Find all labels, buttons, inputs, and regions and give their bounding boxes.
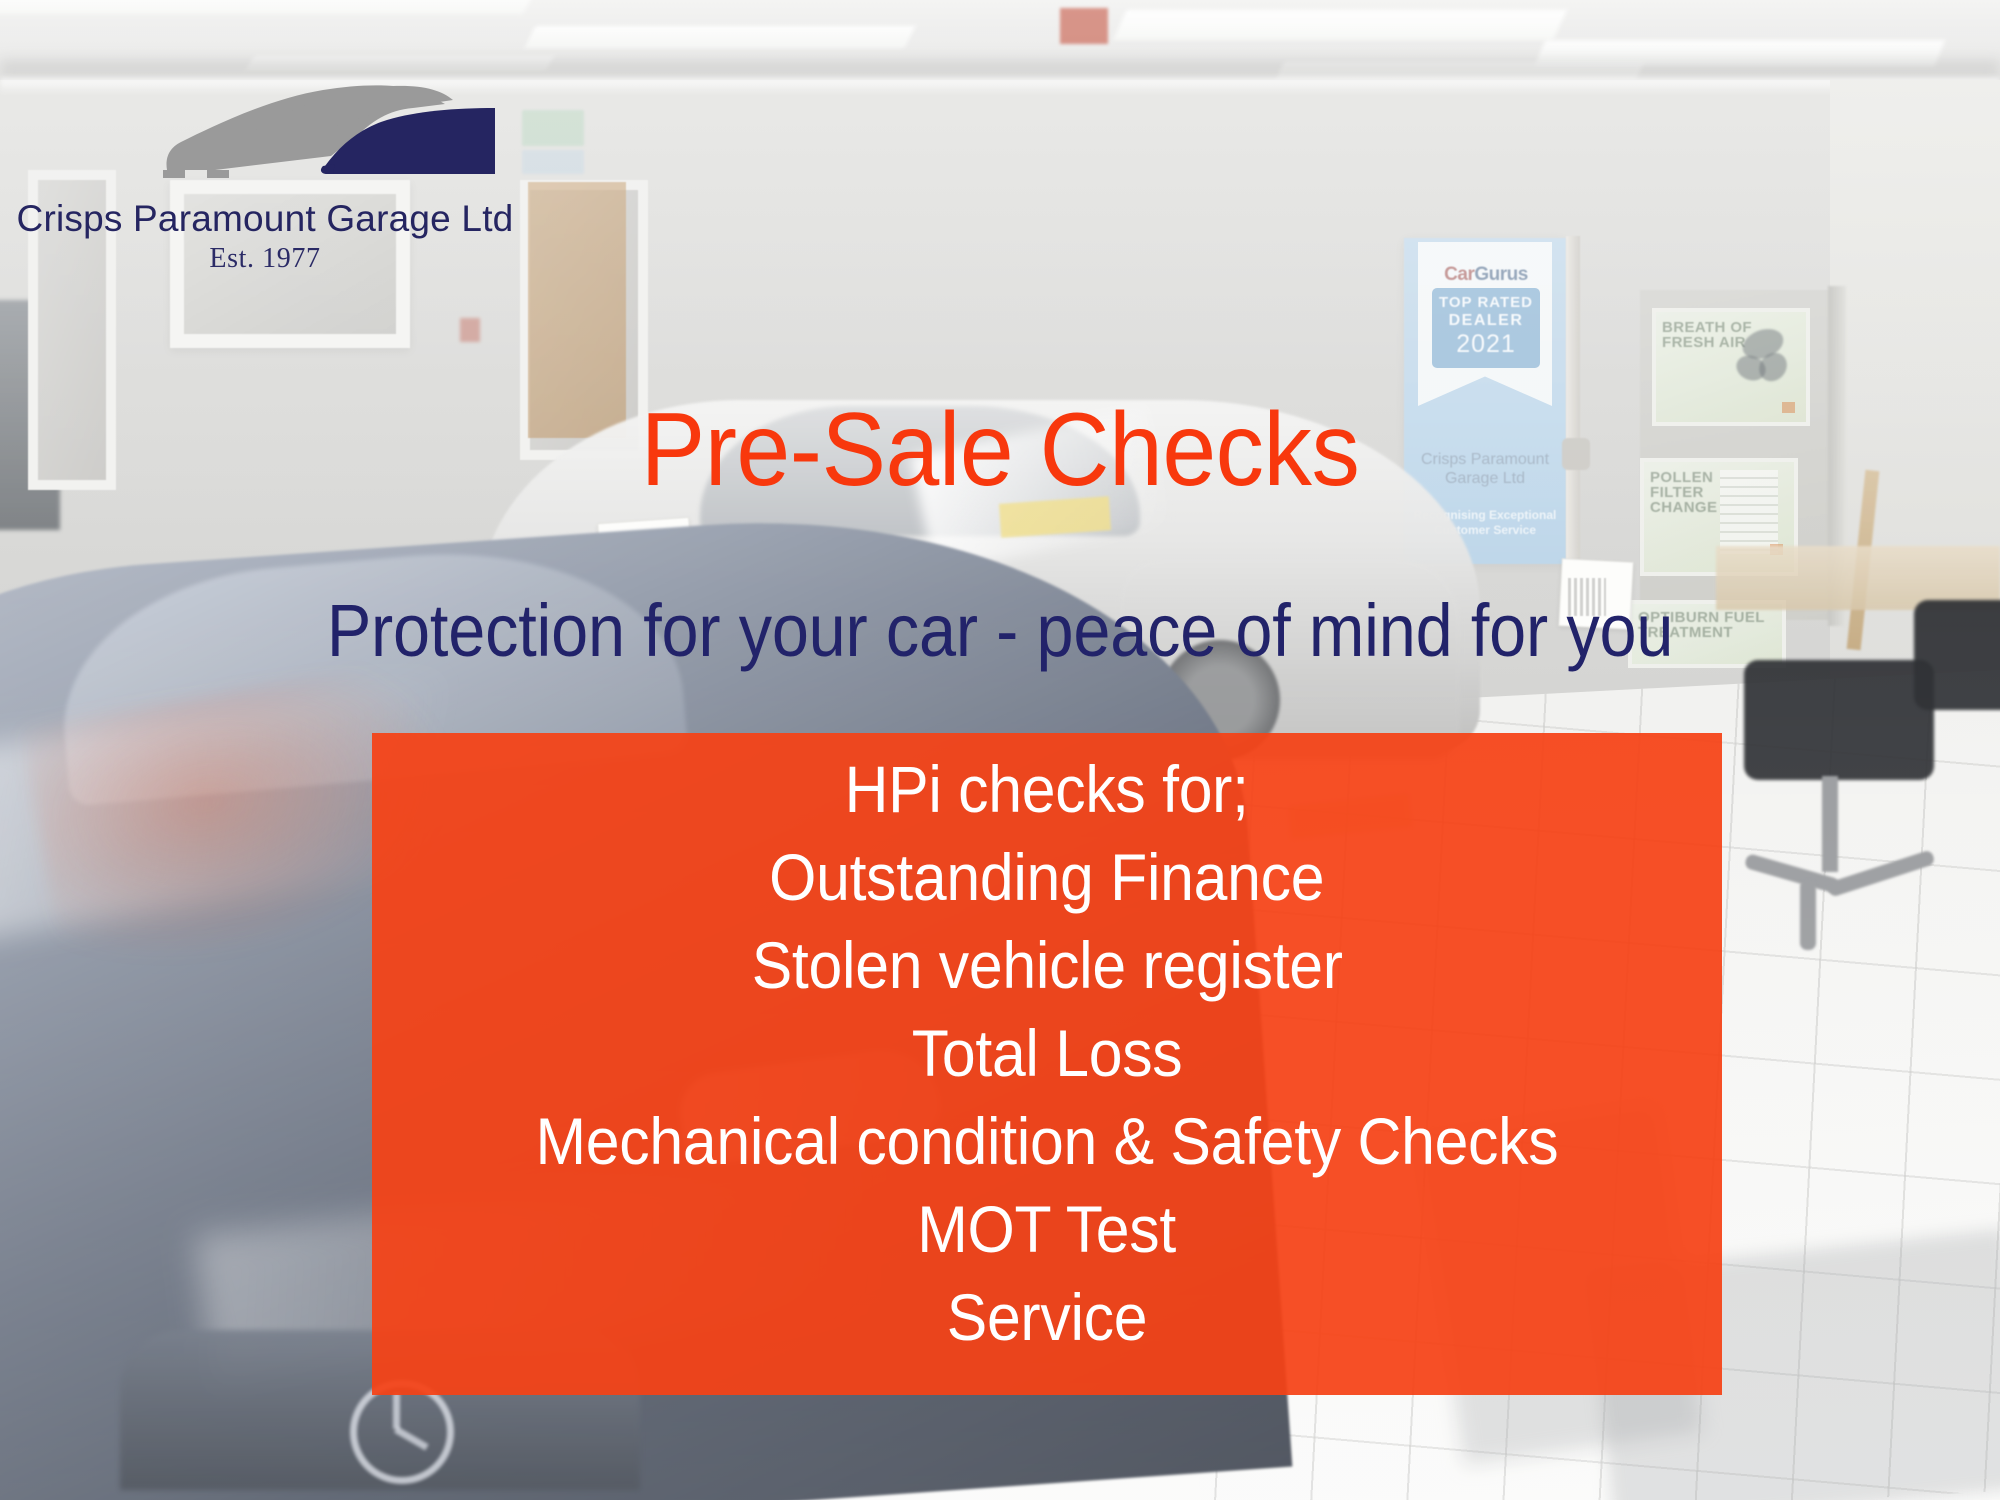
checks-list-item: Total Loss bbox=[912, 1009, 1183, 1097]
chair-leg bbox=[1800, 880, 1816, 950]
slide-canvas: BREATH OF FRESH AIR POLLEN FILTER CHANGE… bbox=[0, 0, 2000, 1500]
ceiling-light-panel bbox=[1113, 10, 1566, 40]
page-subtitle: Protection for your car - peace of mind … bbox=[100, 594, 1900, 668]
page-title: Pre-Sale Checks bbox=[70, 398, 1930, 502]
poster-text: BREATH OF FRESH AIR bbox=[1662, 320, 1752, 350]
office-chair-second bbox=[1914, 600, 2000, 710]
checks-list-item: HPi checks for; bbox=[845, 745, 1249, 833]
badge-year-text: 2021 bbox=[1432, 330, 1540, 359]
cargurus-logo-car: Car bbox=[1444, 264, 1474, 285]
cargurus-logo-gurus: Gurus bbox=[1474, 264, 1527, 285]
checks-list-item: Outstanding Finance bbox=[769, 833, 1324, 921]
badge-top-rated-text: TOP RATED bbox=[1432, 294, 1540, 311]
checks-list: HPi checks for; Outstanding Finance Stol… bbox=[372, 733, 1722, 1395]
checks-list-item: Service bbox=[947, 1273, 1148, 1361]
checks-list-item: MOT Test bbox=[918, 1185, 1177, 1273]
company-established: Est. 1977 bbox=[0, 243, 530, 275]
red-wall-object-small bbox=[460, 318, 480, 342]
checks-list-item: Stolen vehicle register bbox=[751, 921, 1342, 1009]
cargurus-logo: CarGurus bbox=[1430, 264, 1542, 286]
car-silhouette-logo-icon bbox=[155, 78, 555, 198]
company-name: Crisps Paramount Garage Ltd bbox=[0, 198, 530, 240]
ceiling-light-panel bbox=[0, 0, 537, 14]
red-wall-object bbox=[1060, 8, 1108, 44]
checks-list-item: Mechanical condition & Safety Checks bbox=[536, 1097, 1559, 1185]
office-chair bbox=[1744, 660, 1934, 780]
company-logo bbox=[155, 78, 555, 198]
dark-car-badge bbox=[350, 1380, 454, 1484]
chair-stem bbox=[1822, 776, 1838, 872]
ceiling-light-panel bbox=[525, 26, 916, 48]
badge-dealer-text: DEALER bbox=[1432, 312, 1540, 330]
